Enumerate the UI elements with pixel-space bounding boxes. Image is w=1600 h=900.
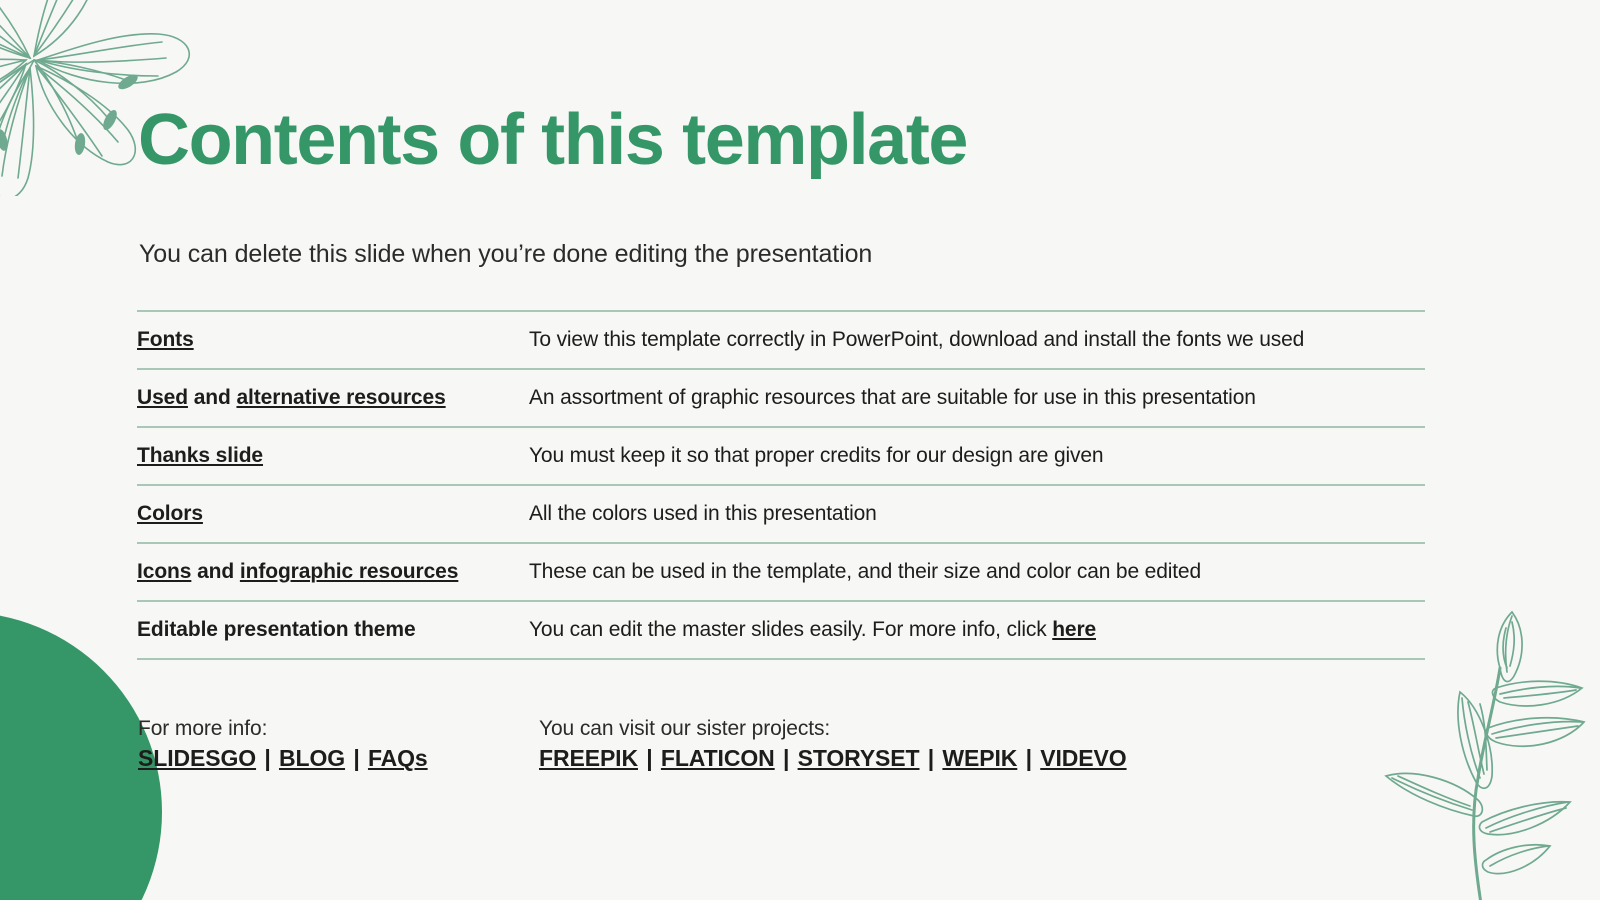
row-label-link[interactable]: Used — [137, 386, 188, 409]
row-label-link[interactable]: Fonts — [137, 328, 194, 351]
link-separator: | — [1017, 745, 1040, 771]
footer-link-storyset[interactable]: STORYSET — [798, 745, 920, 771]
footer-link-wepik[interactable]: WEPIK — [942, 745, 1017, 771]
footer-link-faqs[interactable]: FAQs — [368, 745, 428, 771]
table-row: ColorsAll the colors used in this presen… — [137, 485, 1425, 543]
row-desc-link[interactable]: here — [1052, 618, 1096, 641]
link-separator: | — [256, 745, 279, 771]
row-desc-text: You can edit the master slides easily. F… — [529, 618, 1052, 641]
table-row-description: You must keep it so that proper credits … — [529, 427, 1425, 485]
table-row-description: All the colors used in this presentation — [529, 485, 1425, 543]
row-label-text: Editable presentation theme — [137, 618, 416, 641]
footer-sister-projects-links[interactable]: FREEPIK | FLATICON | STORYSET | WEPIK | … — [539, 744, 1127, 773]
footer-link-videvo[interactable]: VIDEVO — [1040, 745, 1126, 771]
row-desc-text: An assortment of graphic resources that … — [529, 386, 1256, 409]
link-separator: | — [775, 745, 798, 771]
row-label-link[interactable]: Colors — [137, 502, 203, 525]
table-row: Thanks slideYou must keep it so that pro… — [137, 427, 1425, 485]
footer-link-slidesgo[interactable]: SLIDESGO — [138, 745, 256, 771]
table-row-label: Thanks slide — [137, 427, 529, 485]
footer-link-flaticon[interactable]: FLATICON — [661, 745, 775, 771]
table-row-label: Editable presentation theme — [137, 601, 529, 659]
table-row-label: Colors — [137, 485, 529, 543]
footer-link-freepik[interactable]: FREEPIK — [539, 745, 638, 771]
row-label-link[interactable]: alternative resources — [236, 386, 445, 409]
row-desc-text: All the colors used in this presentation — [529, 502, 877, 525]
footer-more-info: For more info: SLIDESGO | BLOG | FAQs — [138, 716, 428, 773]
contents-table-body: FontsTo view this template correctly in … — [137, 311, 1425, 659]
table-row-description: You can edit the master slides easily. F… — [529, 601, 1425, 659]
table-row-description: To view this template correctly in Power… — [529, 311, 1425, 369]
table-row-label: Icons and infographic resources — [137, 543, 529, 601]
footer-more-info-caption: For more info: — [138, 716, 428, 742]
table-row-label: Used and alternative resources — [137, 369, 529, 427]
table-row-description: An assortment of graphic resources that … — [529, 369, 1425, 427]
row-desc-text: These can be used in the template, and t… — [529, 560, 1201, 583]
footer-more-info-links[interactable]: SLIDESGO | BLOG | FAQs — [138, 744, 428, 773]
link-separator: | — [345, 745, 368, 771]
footer-link-blog[interactable]: BLOG — [279, 745, 345, 771]
table-row: Icons and infographic resourcesThese can… — [137, 543, 1425, 601]
slide-subtitle: You can delete this slide when you’re do… — [139, 240, 872, 269]
link-separator: | — [638, 745, 661, 771]
table-row-description: These can be used in the template, and t… — [529, 543, 1425, 601]
row-label-text: and — [191, 560, 240, 583]
contents-table: FontsTo view this template correctly in … — [137, 310, 1425, 660]
row-label-link[interactable]: infographic resources — [240, 560, 458, 583]
footer-sister-projects-caption: You can visit our sister projects: — [539, 716, 1127, 742]
row-label-link[interactable]: Thanks slide — [137, 444, 263, 467]
row-desc-text: You must keep it so that proper credits … — [529, 444, 1103, 467]
page-title: Contents of this template — [138, 104, 967, 176]
row-label-text: and — [188, 386, 237, 409]
table-row: FontsTo view this template correctly in … — [137, 311, 1425, 369]
table-row: Used and alternative resourcesAn assortm… — [137, 369, 1425, 427]
footer-sister-projects: You can visit our sister projects: FREEP… — [539, 716, 1127, 773]
row-desc-text: To view this template correctly in Power… — [529, 328, 1304, 351]
link-separator: | — [920, 745, 943, 771]
slide-canvas: Contents of this template You can delete… — [0, 0, 1600, 900]
footer: For more info: SLIDESGO | BLOG | FAQs Yo… — [0, 716, 1600, 786]
table-row-label: Fonts — [137, 311, 529, 369]
table-row: Editable presentation themeYou can edit … — [137, 601, 1425, 659]
row-label-link[interactable]: Icons — [137, 560, 191, 583]
